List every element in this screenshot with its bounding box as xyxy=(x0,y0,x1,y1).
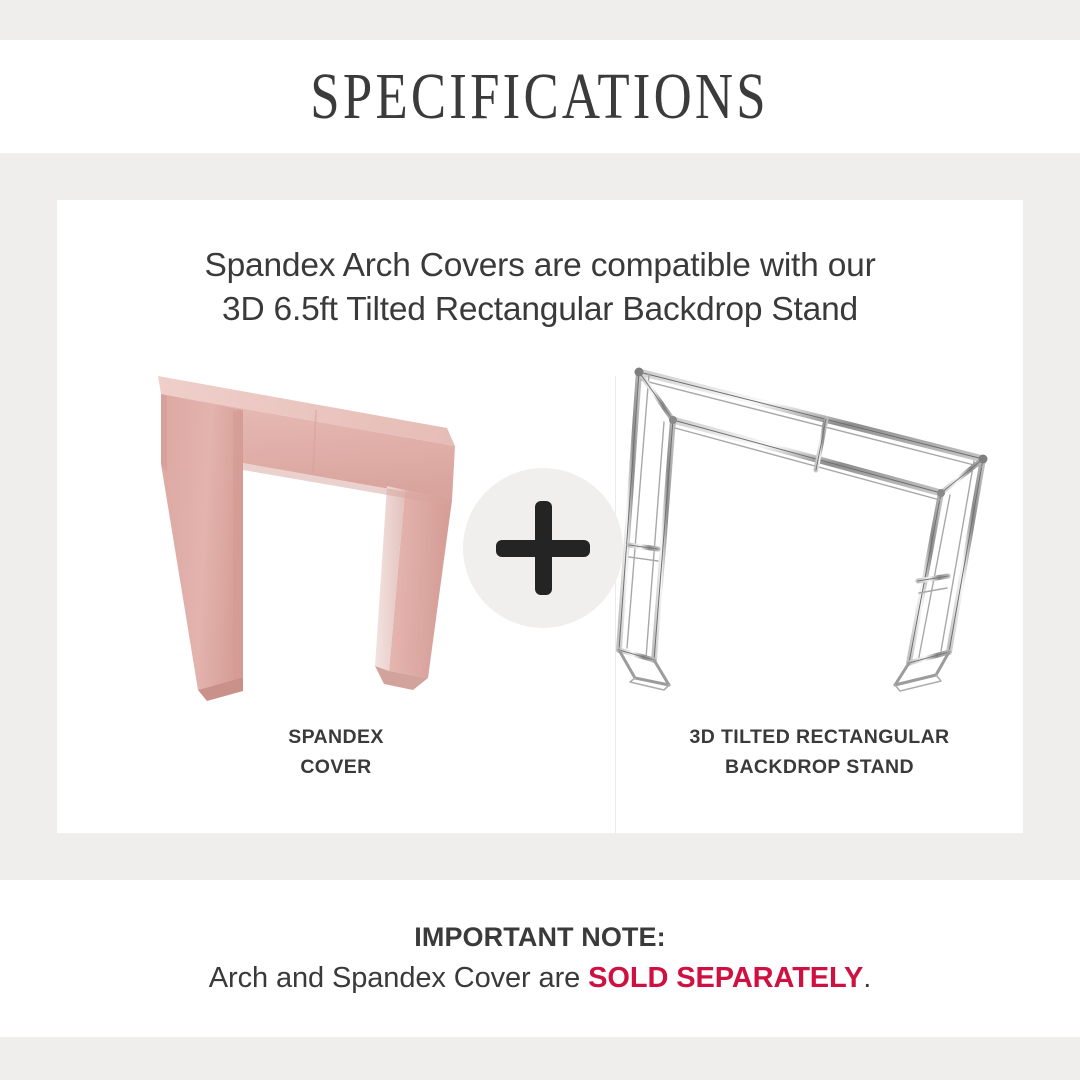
header-band: SPECIFICATIONS xyxy=(0,40,1080,153)
product-label-line-2: COVER xyxy=(57,752,615,782)
important-note-body: Arch and Spandex Cover are SOLD SEPARATE… xyxy=(209,962,871,995)
product-label-line-2: BACKDROP STAND xyxy=(616,752,1023,782)
important-note-prefix: Arch and Spandex Cover are xyxy=(209,962,588,994)
page-title: SPECIFICATIONS xyxy=(311,64,769,130)
important-note-band: IMPORTANT NOTE: Arch and Spandex Cover a… xyxy=(0,880,1080,1037)
compatibility-heading-line-1: Spandex Arch Covers are compatible with … xyxy=(57,244,1023,288)
important-note-title: IMPORTANT NOTE: xyxy=(414,922,665,953)
product-label-spandex-cover: SPANDEX COVER xyxy=(57,722,615,782)
plus-icon xyxy=(463,468,623,628)
product-column-backdrop-stand: 3D TILTED RECTANGULAR BACKDROP STAND xyxy=(616,360,1023,815)
compatibility-heading: Spandex Arch Covers are compatible with … xyxy=(57,244,1023,332)
important-note-suffix: . xyxy=(863,962,871,994)
product-label-line-1: SPANDEX xyxy=(57,722,615,752)
important-note-emphasis: SOLD SEPARATELY xyxy=(588,962,863,994)
product-label-line-1: 3D TILTED RECTANGULAR xyxy=(616,722,1023,752)
compatibility-heading-line-2: 3D 6.5ft Tilted Rectangular Backdrop Sta… xyxy=(57,288,1023,332)
plus-icon-vertical-bar xyxy=(535,501,552,595)
product-label-backdrop-stand: 3D TILTED RECTANGULAR BACKDROP STAND xyxy=(616,722,1023,782)
tilted-rectangular-backdrop-stand-photo xyxy=(616,360,1023,710)
